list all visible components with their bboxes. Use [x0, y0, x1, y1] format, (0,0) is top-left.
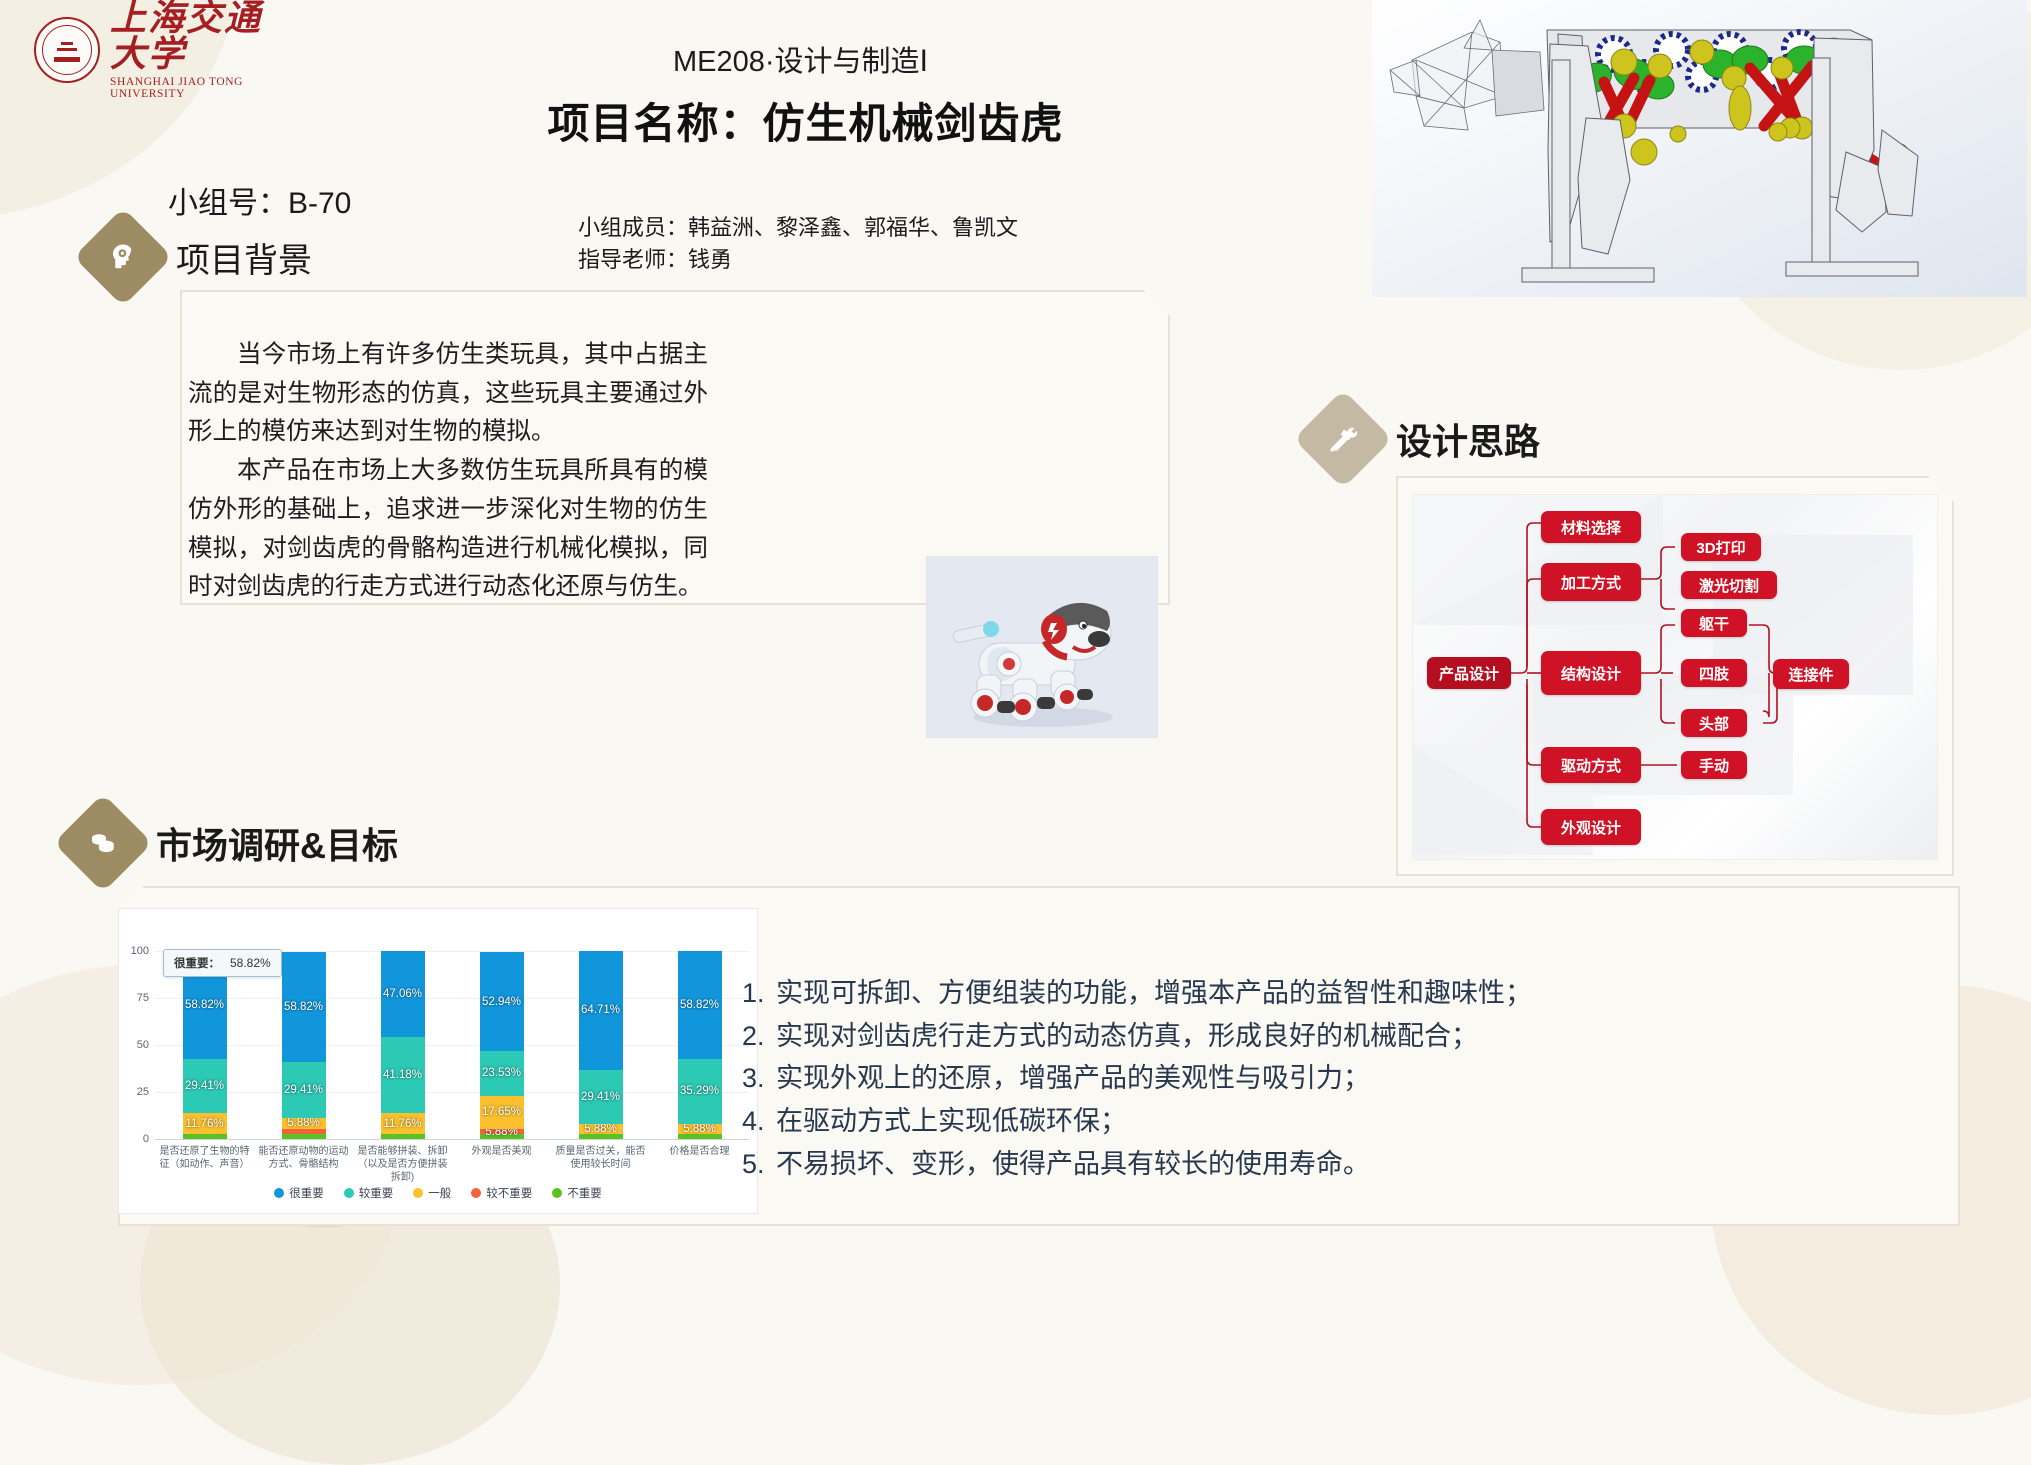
goal-number: 5. [742, 1143, 776, 1186]
chart-category-label: 是否还原了生物的特征（如动作、声音） [159, 1145, 250, 1171]
chart-tooltip: 很重要：58.82% [163, 949, 282, 977]
coins-icon [54, 794, 153, 893]
y-tick-100: 100 [123, 945, 149, 957]
tooltip-value: 58.82% [230, 956, 271, 970]
background-text: 当今市场上有许多仿生类玩具，其中占据主流的是对生物形态的仿真，这些玩具主要通过外… [188, 336, 708, 607]
flow-node-processing[interactable]: 加工方式 [1541, 563, 1641, 601]
chart-bar: 5.88%29.41%64.71% [579, 951, 623, 1139]
chart-legend-item[interactable]: 很重要 [274, 1185, 324, 1201]
chart-bar: 5.88%17.65%23.53%52.94% [480, 951, 524, 1139]
goal-text: 在驱动方式上实现低碳环保； [776, 1106, 1127, 1136]
flow-node-drive[interactable]: 驱动方式 [1541, 747, 1641, 783]
y-tick-0: 0 [123, 1133, 149, 1145]
head-gear-icon [74, 208, 173, 307]
chart-bar-segment [183, 1134, 227, 1139]
goal-text: 实现外观上的还原，增强产品的美观性与吸引力； [776, 1063, 1370, 1093]
section-header-market: 市场调研&目标 [68, 808, 398, 878]
chart-category-label: 价格是否合理 [654, 1145, 745, 1158]
flow-node-structure[interactable]: 结构设计 [1541, 651, 1641, 695]
chart-bar: 11.76%29.41%58.82% [183, 951, 227, 1139]
chart-bar-segment: 17.65% [480, 1096, 524, 1129]
section-title-market: 市场调研&目标 [156, 817, 398, 869]
design-flowchart: 产品设计 材料选择 加工方式 结构设计 驱动方式 外观设计 3D打印 激光切割 … [1412, 494, 1938, 860]
y-tick-25: 25 [123, 1086, 149, 1098]
chart-category-label: 能否还原动物的运动方式、骨骼结构 [258, 1145, 349, 1171]
hammer-wrench-icon [1294, 390, 1393, 489]
chart-legend-item[interactable]: 不重要 [552, 1185, 602, 1201]
goals-list: 1.实现可拆卸、方便组装的功能，增强本产品的益智性和趣味性； 2.实现对剑齿虎行… [742, 972, 1952, 1185]
group-number: 小组号：B-70 [168, 178, 351, 222]
chart-bar-segment: 5.88% [678, 1124, 722, 1135]
chart-bar-segment: 35.29% [678, 1059, 722, 1124]
goal-text: 不易损坏、变形，使得产品具有较长的使用寿命。 [776, 1149, 1370, 1179]
flow-node-material[interactable]: 材料选择 [1541, 511, 1641, 543]
chart-bar-segment [282, 1134, 326, 1139]
chart-category-label: 外观是否美观 [456, 1145, 547, 1158]
mechanical-tiger-render [1372, 0, 2027, 297]
chart-bar-segment [678, 1134, 722, 1139]
chart-category-label: 质量是否过关，能否使用较长时间 [555, 1145, 646, 1171]
chart-bar-segment: 41.18% [381, 1037, 425, 1113]
flow-node-manual[interactable]: 手动 [1681, 751, 1747, 779]
robot-dog-photo [926, 556, 1158, 738]
chart-bar-segment: 58.82% [282, 952, 326, 1063]
goal-number: 4. [742, 1100, 776, 1143]
flow-node-torso[interactable]: 躯干 [1681, 609, 1747, 637]
section-title-design: 设计思路 [1396, 413, 1540, 465]
flow-node-root[interactable]: 产品设计 [1427, 657, 1511, 689]
chart-bar-segment: 58.82% [678, 951, 722, 1059]
background-paragraph-1: 当今市场上有许多仿生类玩具，其中占据主流的是对生物形态的仿真，这些玩具主要通过外… [188, 336, 708, 452]
chart-bar: 11.76%41.18%47.06% [381, 951, 425, 1139]
goal-number: 1. [742, 972, 776, 1015]
chart-bar: 5.88%35.29%58.82% [678, 951, 722, 1139]
goal-item: 5.不易损坏、变形，使得产品具有较长的使用寿命。 [742, 1143, 1952, 1186]
goal-item: 4.在驱动方式上实现低碳环保； [742, 1100, 1952, 1143]
background-paragraph-2: 本产品在市场上大多数仿生玩具所具有的模仿外形的基础上，追求进一步深化对生物的仿生… [188, 452, 708, 607]
section-title-background: 项目背景 [176, 233, 312, 282]
chart-bar-segment: 11.76% [183, 1113, 227, 1135]
chart-bar-segment: 52.94% [480, 952, 524, 1052]
flow-node-laser-cut[interactable]: 激光切割 [1681, 571, 1777, 599]
poster-canvas: 上海交通大学 SHANGHAI JIAO TONG UNIVERSITY ME2… [0, 0, 2031, 1265]
chart-bar-segment: 11.76% [381, 1113, 425, 1135]
chart-legend-item[interactable]: 较不重要 [471, 1185, 532, 1201]
tooltip-label: 很重要： [174, 958, 220, 970]
chart-bar-segment: 29.41% [183, 1059, 227, 1113]
chart-legend-item[interactable]: 较重要 [344, 1185, 394, 1201]
flow-node-head[interactable]: 头部 [1681, 709, 1747, 737]
goal-text: 实现对剑齿虎行走方式的动态仿真，形成良好的机械配合； [776, 1021, 1478, 1051]
chart-bar-segment [381, 1134, 425, 1139]
chart-legend-item[interactable]: 一般 [413, 1185, 451, 1201]
chart-bar: 5.88%29.41%58.82% [282, 951, 326, 1139]
flow-node-limbs[interactable]: 四肢 [1681, 659, 1747, 687]
section-header-background: 项目背景 [88, 222, 312, 292]
market-survey-chart: 100 75 50 25 0 11.76%29.41%58.82%5.88%29… [118, 908, 758, 1214]
chart-bar-segment: 5.88% [282, 1118, 326, 1129]
flow-node-3d-print[interactable]: 3D打印 [1681, 533, 1761, 561]
team-members: 小组成员：韩益洲、黎泽鑫、郭福华、鲁凯文 [578, 212, 1018, 244]
team-info: 小组成员：韩益洲、黎泽鑫、郭福华、鲁凯文 指导老师：钱勇 [578, 212, 1018, 276]
chart-bar-segment: 23.53% [480, 1051, 524, 1095]
goal-number: 2. [742, 1015, 776, 1058]
goal-item: 2.实现对剑齿虎行走方式的动态仿真，形成良好的机械配合； [742, 1015, 1952, 1058]
flow-node-appearance[interactable]: 外观设计 [1541, 809, 1641, 845]
chart-bar-segment: 29.41% [282, 1062, 326, 1117]
chart-bar-segment: 29.41% [579, 1070, 623, 1124]
section-header-design: 设计思路 [1308, 404, 1540, 474]
chart-bar-segment [579, 1134, 623, 1139]
chart-bar-segment: 5.88% [480, 1129, 524, 1135]
team-advisor: 指导老师：钱勇 [578, 244, 1018, 276]
y-tick-75: 75 [123, 992, 149, 1004]
chart-bar-segment [282, 1129, 326, 1135]
chart-bar-segment: 64.71% [579, 951, 623, 1070]
goal-item: 3.实现外观上的还原，增强产品的美观性与吸引力； [742, 1057, 1952, 1100]
chart-legend: 很重要较重要一般较不重要不重要 [119, 1185, 757, 1201]
goal-number: 3. [742, 1057, 776, 1100]
goal-item: 1.实现可拆卸、方便组装的功能，增强本产品的益智性和趣味性； [742, 972, 1952, 1015]
chart-category-label: 是否能够拼装、拆卸（以及是否方便拼装拆卸) [357, 1145, 448, 1184]
flow-node-connector[interactable]: 连接件 [1773, 659, 1849, 689]
chart-bar-segment: 5.88% [579, 1124, 623, 1135]
y-tick-50: 50 [123, 1039, 149, 1051]
goal-text: 实现可拆卸、方便组装的功能，增强本产品的益智性和趣味性； [776, 978, 1532, 1008]
chart-bar-segment: 47.06% [381, 951, 425, 1037]
chart-bars: 11.76%29.41%58.82%5.88%29.41%58.82%11.76… [155, 951, 749, 1139]
